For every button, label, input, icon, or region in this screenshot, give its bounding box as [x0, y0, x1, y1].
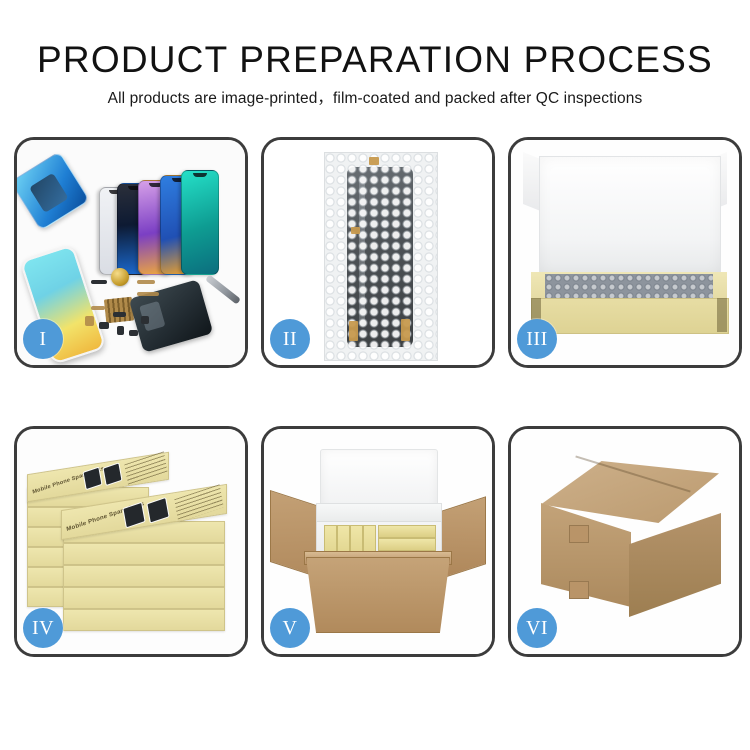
step-card-4[interactable]: Mobile Phone Spare Parts Mobile Phone Sp…: [14, 426, 248, 657]
box-stack-icon: Mobile Phone Spare Parts Mobile Phone Sp…: [25, 445, 243, 643]
step-badge-2: II: [270, 319, 310, 359]
step-card-1[interactable]: I: [14, 137, 248, 368]
coil-part-icon: [111, 268, 129, 286]
step-badge-1: I: [23, 319, 63, 359]
bubble-wrap-layer-icon: [545, 274, 713, 300]
page-subtitle: All products are image-printed，film-coat…: [0, 89, 750, 109]
phone-lineup-icon: [105, 160, 245, 275]
step-badge-3: III: [517, 319, 557, 359]
step-card-5[interactable]: V: [261, 426, 495, 657]
step-badge-4: IV: [23, 608, 63, 648]
step-badge-6: VI: [517, 608, 557, 648]
carton-tape-icon: [569, 581, 589, 599]
foam-lid-icon: [539, 156, 721, 276]
process-step-grid: I II: [14, 137, 742, 657]
carton-tape-icon: [569, 525, 589, 543]
step-card-3[interactable]: III: [508, 137, 742, 368]
page-header: PRODUCT PREPARATION PROCESS All products…: [0, 0, 750, 109]
bubble-wrap-bag-icon: [324, 152, 438, 361]
carton-body-icon: [306, 557, 450, 633]
yellow-inner-box-icon: [531, 298, 729, 334]
step-card-2[interactable]: II: [261, 137, 495, 368]
page-title: PRODUCT PREPARATION PROCESS: [0, 38, 750, 82]
step-card-6[interactable]: VI: [508, 426, 742, 657]
step-badge-5: V: [270, 608, 310, 648]
